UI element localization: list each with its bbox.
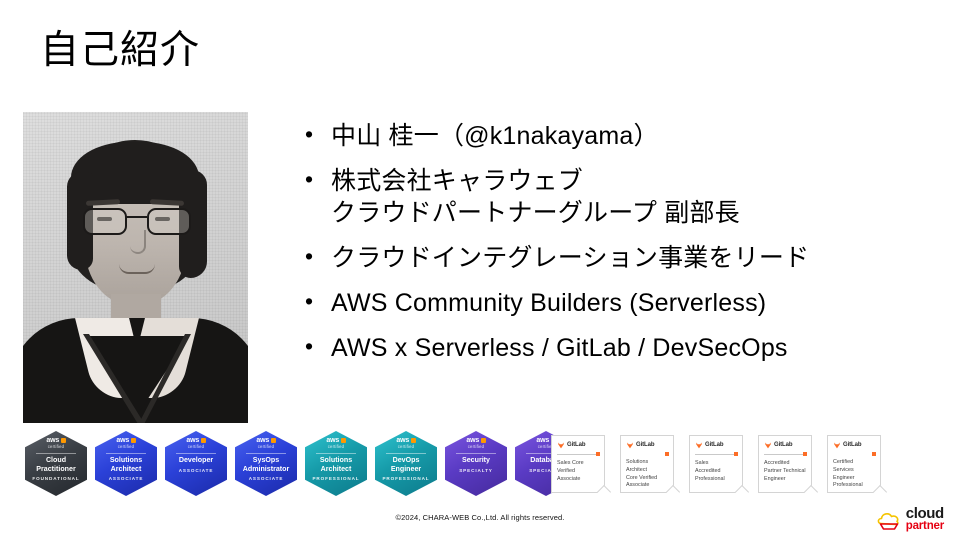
- aws-badge-sysops-administrator-associate: aws certified SysOps Administrator ASSOC…: [235, 431, 297, 496]
- badge-divider: [176, 453, 216, 454]
- gitlab-accent-dot: [803, 452, 807, 456]
- gitlab-brand-label: GitLab: [705, 442, 723, 448]
- gitlab-card-text: Sales Core Verified Associate: [557, 460, 600, 483]
- logo-line-partner: partner: [906, 521, 944, 532]
- gitlab-tanuki-icon: [695, 441, 703, 449]
- page-title: 自己紹介: [40, 28, 200, 75]
- badge-title: Solutions Architect: [317, 456, 355, 473]
- aws-logo-square: [271, 438, 276, 443]
- badge-divider: [36, 453, 76, 454]
- aws-logo-subtitle: certified: [48, 445, 64, 449]
- aws-logo-square: [481, 438, 486, 443]
- aws-logo-word: aws: [116, 437, 129, 444]
- aws-logo-word: aws: [186, 437, 199, 444]
- aws-logo-icon: aws certified: [46, 437, 65, 449]
- aws-badge-developer-associate: aws certified Developer ASSOCIATE: [165, 431, 227, 496]
- logo-line-cloud: cloud: [906, 507, 944, 521]
- bullet-marker: •: [305, 165, 331, 194]
- gitlab-accent-dot: [872, 452, 876, 456]
- profile-photo: [23, 112, 248, 423]
- aws-logo-square: [411, 438, 416, 443]
- gitlab-brand-label: GitLab: [636, 442, 654, 448]
- gitlab-accent-dot: [596, 452, 600, 456]
- aws-logo-icon: aws certified: [116, 437, 135, 449]
- gitlab-tanuki-icon: [626, 441, 634, 449]
- cloud-partner-logo: cloud partner: [876, 507, 944, 532]
- gitlab-card-text: Sales Accredited Professional: [695, 460, 738, 483]
- copyright-text: ©2024, CHARA-WEB Co.,Ltd. All rights res…: [0, 513, 960, 522]
- aws-logo-square: [341, 438, 346, 443]
- glasses-icon: [81, 208, 191, 232]
- badge-level: ASSOCIATE: [249, 476, 284, 481]
- gitlab-card-header: GitLab: [557, 441, 600, 449]
- badge-divider: [316, 453, 356, 454]
- bullet-text: クラウドインテグレーション事業をリード: [331, 242, 945, 274]
- badge-title: Solutions Architect: [107, 456, 145, 473]
- aws-logo-word: aws: [466, 437, 479, 444]
- aws-logo-subtitle: certified: [328, 445, 344, 449]
- bullet-list: • 中山 桂一（@k1nakayama） • 株式会社キャラウェブ クラウドパー…: [305, 120, 945, 377]
- bullet-marker: •: [305, 287, 331, 316]
- aws-logo-square: [61, 438, 66, 443]
- bullet-text: 中山 桂一（@k1nakayama）: [331, 120, 945, 152]
- gitlab-card-text: Accredited Partner Technical Engineer: [764, 460, 807, 483]
- badge-divider: [246, 453, 286, 454]
- badge-level: PROFESSIONAL: [312, 476, 359, 481]
- badge-divider: [386, 453, 426, 454]
- gitlab-card-header: GitLab: [626, 441, 669, 449]
- aws-badge-cloud-practitioner: aws certified Cloud Practitioner FOUNDAT…: [25, 431, 87, 496]
- list-item: • 中山 桂一（@k1nakayama）: [305, 120, 945, 152]
- list-item: • 株式会社キャラウェブ クラウドパートナーグループ 副部長: [305, 165, 945, 229]
- gitlab-tanuki-icon: [764, 441, 772, 449]
- photo-mouth: [119, 264, 155, 274]
- cloud-partner-wordmark: cloud partner: [906, 507, 944, 532]
- gitlab-accent-dot: [734, 452, 738, 456]
- list-item: • クラウドインテグレーション事業をリード: [305, 242, 945, 274]
- aws-badge-security-specialty: aws certified Security SPECIALTY: [445, 431, 507, 496]
- gitlab-card-rule: [557, 454, 600, 455]
- aws-badge-solutions-architect-associate: aws certified Solutions Architect ASSOCI…: [95, 431, 157, 496]
- aws-logo-word: aws: [256, 437, 269, 444]
- bullet-marker: •: [305, 332, 331, 361]
- aws-logo-subtitle: certified: [258, 445, 274, 449]
- gitlab-brand-label: GitLab: [843, 442, 861, 448]
- aws-logo-subtitle: certified: [398, 445, 414, 449]
- bullet-text: 株式会社キャラウェブ クラウドパートナーグループ 副部長: [331, 165, 945, 229]
- aws-logo-icon: aws certified: [326, 437, 345, 449]
- gitlab-accent-dot: [665, 452, 669, 456]
- gitlab-brand-label: GitLab: [774, 442, 792, 448]
- aws-logo-subtitle: certified: [468, 445, 484, 449]
- gitlab-tanuki-icon: [557, 441, 565, 449]
- cloud-icon: [876, 508, 902, 532]
- gitlab-card-header: GitLab: [695, 441, 738, 449]
- aws-badge-solutions-architect-professional: aws certified Solutions Architect PROFES…: [305, 431, 367, 496]
- badge-level: SPECIALTY: [459, 468, 493, 473]
- badge-divider: [456, 453, 496, 454]
- badge-title: DevOps Engineer: [388, 456, 424, 473]
- gitlab-card-rule: [695, 454, 738, 455]
- aws-logo-subtitle: certified: [188, 445, 204, 449]
- badge-title: Developer: [176, 456, 216, 465]
- aws-logo-word: aws: [46, 437, 59, 444]
- aws-logo-square: [201, 438, 206, 443]
- badge-level: ASSOCIATE: [179, 468, 214, 473]
- gitlab-card-header: GitLab: [764, 441, 807, 449]
- badge-title: Cloud Practitioner: [33, 456, 78, 473]
- gitlab-tanuki-icon: [833, 441, 841, 449]
- aws-logo-subtitle: certified: [118, 445, 134, 449]
- badge-title: SysOps Administrator: [240, 456, 293, 473]
- aws-badge-devops-engineer-professional: aws certified DevOps Engineer PROFESSION…: [375, 431, 437, 496]
- bullet-text: AWS Community Builders (Serverless): [331, 287, 945, 319]
- gitlab-certification-cards: GitLab Sales Core Verified Associate Git…: [551, 435, 881, 493]
- aws-logo-icon: aws certified: [396, 437, 415, 449]
- list-item: • AWS x Serverless / GitLab / DevSecOps: [305, 332, 945, 364]
- gitlab-card-text: Solutions Architect Core Verified Associ…: [626, 459, 669, 490]
- gitlab-card-certified-services-engineer-professional: GitLab Certified Services Engineer Profe…: [827, 435, 881, 493]
- gitlab-card-accredited-partner-technical-engineer: GitLab Accredited Partner Technical Engi…: [758, 435, 812, 493]
- aws-logo-word: aws: [326, 437, 339, 444]
- gitlab-card-sales-core-verified-associate: GitLab Sales Core Verified Associate: [551, 435, 605, 493]
- badge-level: PROFESSIONAL: [382, 476, 429, 481]
- aws-logo-word: aws: [396, 437, 409, 444]
- badge-title: Security: [459, 456, 493, 465]
- aws-logo-icon: aws certified: [256, 437, 275, 449]
- badge-divider: [106, 453, 146, 454]
- bullet-marker: •: [305, 242, 331, 271]
- bullet-marker: •: [305, 120, 331, 149]
- aws-logo-icon: aws certified: [186, 437, 205, 449]
- photo-nose: [130, 230, 146, 254]
- gitlab-brand-label: GitLab: [567, 442, 585, 448]
- gitlab-card-rule: [764, 454, 807, 455]
- bullet-text: AWS x Serverless / GitLab / DevSecOps: [331, 332, 945, 364]
- gitlab-card-sales-accredited-professional: GitLab Sales Accredited Professional: [689, 435, 743, 493]
- gitlab-card-text: Certified Services Engineer Professional: [833, 459, 876, 490]
- gitlab-card-solutions-architect-core-verified-associate: GitLab Solutions Architect Core Verified…: [620, 435, 674, 493]
- gitlab-card-header: GitLab: [833, 441, 876, 449]
- aws-logo-icon: aws certified: [466, 437, 485, 449]
- list-item: • AWS Community Builders (Serverless): [305, 287, 945, 319]
- aws-certification-badges: aws certified Cloud Practitioner FOUNDAT…: [25, 431, 577, 496]
- aws-logo-word: aws: [536, 437, 549, 444]
- aws-logo-square: [131, 438, 136, 443]
- badge-level: ASSOCIATE: [109, 476, 144, 481]
- badge-level: FOUNDATIONAL: [32, 476, 79, 481]
